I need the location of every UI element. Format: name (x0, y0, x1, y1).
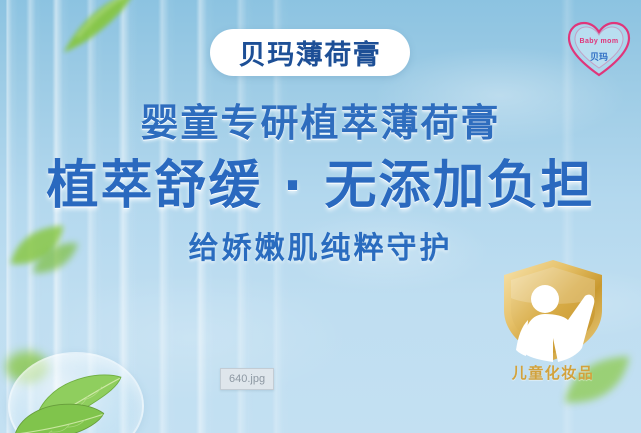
brand-name-pill: 贝玛薄荷膏 (210, 29, 410, 76)
heart-icon (565, 18, 633, 80)
baby-mom-heart-logo: Baby mom 贝玛 (565, 18, 633, 80)
shield-badge-label: 儿童化妆品 (498, 362, 608, 383)
shield-icon (498, 258, 608, 362)
leaf-icon-bottom-left-blur (4, 348, 50, 386)
headline-main: 婴童专研植萃薄荷膏 (0, 92, 641, 147)
petri-dish (8, 352, 144, 433)
promotional-poster: 贝玛薄荷膏 Baby mom 贝玛 婴童专研植萃薄荷膏 植萃舒缓 · 无添加负担… (0, 0, 641, 433)
mint-leaf-upper (30, 370, 126, 432)
brand-name-text: 贝玛薄荷膏 (239, 33, 382, 72)
heart-logo-chinese-text: 贝玛 (565, 50, 633, 63)
image-filename-placeholder: 640.jpg (220, 368, 274, 390)
leaf-icon-top-left (60, 0, 138, 54)
children-cosmetics-shield-badge: 儿童化妆品 (498, 258, 608, 390)
mint-leaf-lower (14, 396, 106, 433)
heart-logo-english-text: Baby mom (565, 38, 633, 45)
headline-hero: 植萃舒缓 · 无添加负担 (0, 143, 641, 218)
